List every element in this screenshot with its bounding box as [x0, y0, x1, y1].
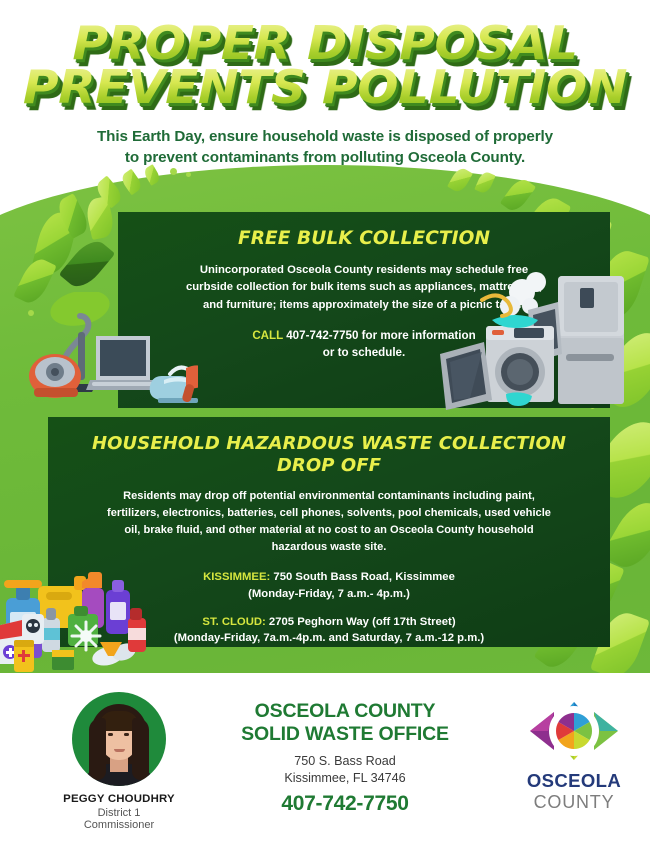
- title-line-2: PREVENTS POLLUTION: [0, 66, 650, 108]
- site-city-label: KISSIMMEE:: [203, 571, 270, 583]
- commissioner-block: PEGGY CHOUDHRY District 1 Commissioner: [62, 692, 176, 831]
- office-phone[interactable]: 407-742-7750: [210, 792, 480, 816]
- hazardous-body-line-4: hazardous waste site.: [272, 541, 387, 553]
- logo-word-osceola: OSCEOLA: [508, 770, 640, 792]
- address-line-1: 750 S. Bass Road: [294, 754, 396, 768]
- hazardous-heading-line-2: DROP OFF: [277, 455, 381, 476]
- hazardous-heading-line-1: HOUSEHOLD HAZARDOUS WASTE COLLECTION: [92, 433, 566, 454]
- address-line-2: Kissimmee, FL 34746: [284, 771, 405, 785]
- header: PROPER DISPOSAL PREVENTS POLLUTION This …: [0, 0, 650, 190]
- subtitle-line-1: This Earth Day, ensure household waste i…: [97, 128, 553, 145]
- site-city-label: ST. CLOUD:: [202, 616, 265, 628]
- osceola-county-logo: OSCEOLA COUNTY: [508, 698, 640, 813]
- panel-hazardous-body: Residents may drop off potential environ…: [70, 488, 588, 557]
- hazardous-body-line-3: oil, brake fluid, and other material at …: [124, 524, 533, 536]
- panel-bulk-heading: FREE BULK COLLECTION: [136, 228, 592, 251]
- commissioner-role: District 1 Commissioner: [62, 807, 176, 831]
- office-address: 750 S. Bass Road Kissimmee, FL 34746: [210, 753, 480, 786]
- call-keyword: CALL: [252, 329, 283, 342]
- footer: PEGGY CHOUDHRY District 1 Commissioner O…: [0, 680, 650, 841]
- commissioner-name: PEGGY CHOUDHRY: [62, 793, 176, 805]
- flyer-page: PROPER DISPOSAL PREVENTS POLLUTION This …: [0, 0, 650, 841]
- bulk-appliances-right-illustration: [440, 262, 640, 414]
- site-address: 750 South Bass Road, Kissimmee: [270, 571, 455, 583]
- logo-word-county: COUNTY: [508, 792, 640, 813]
- title-line-1: PROPER DISPOSAL: [0, 22, 650, 64]
- subtitle: This Earth Day, ensure household waste i…: [0, 126, 650, 169]
- call-line-2: or to schedule.: [323, 346, 405, 359]
- office-line-1: OSCEOLA COUNTY: [255, 700, 436, 722]
- county-seal-icon: [508, 698, 640, 764]
- avatar: [72, 692, 166, 786]
- panel-hazardous-heading: HOUSEHOLD HAZARDOUS WASTE COLLECTION DRO…: [70, 433, 588, 477]
- page-title: PROPER DISPOSAL PREVENTS POLLUTION: [0, 22, 650, 109]
- site-hours: (Monday-Friday, 7 a.m.- 4p.m.): [248, 588, 410, 600]
- subtitle-line-2: to prevent contaminants from polluting O…: [125, 149, 525, 166]
- site-hours: (Monday-Friday, 7a.m.-4p.m. and Saturday…: [174, 632, 484, 644]
- office-line-2: SOLID WASTE OFFICE: [241, 723, 449, 745]
- office-name: OSCEOLA COUNTY SOLID WASTE OFFICE: [210, 700, 480, 745]
- site-address: 2705 Peghorn Way (off 17th Street): [266, 616, 456, 628]
- hazardous-body-line-1: Residents may drop off potential environ…: [123, 490, 535, 502]
- hazardous-chemicals-illustration: [0, 556, 148, 676]
- contact-block: OSCEOLA COUNTY SOLID WASTE OFFICE 750 S.…: [210, 700, 480, 816]
- bulk-appliances-left-illustration: [18, 292, 198, 410]
- hazardous-body-line-2: fertilizers, electronics, batteries, cel…: [107, 507, 551, 519]
